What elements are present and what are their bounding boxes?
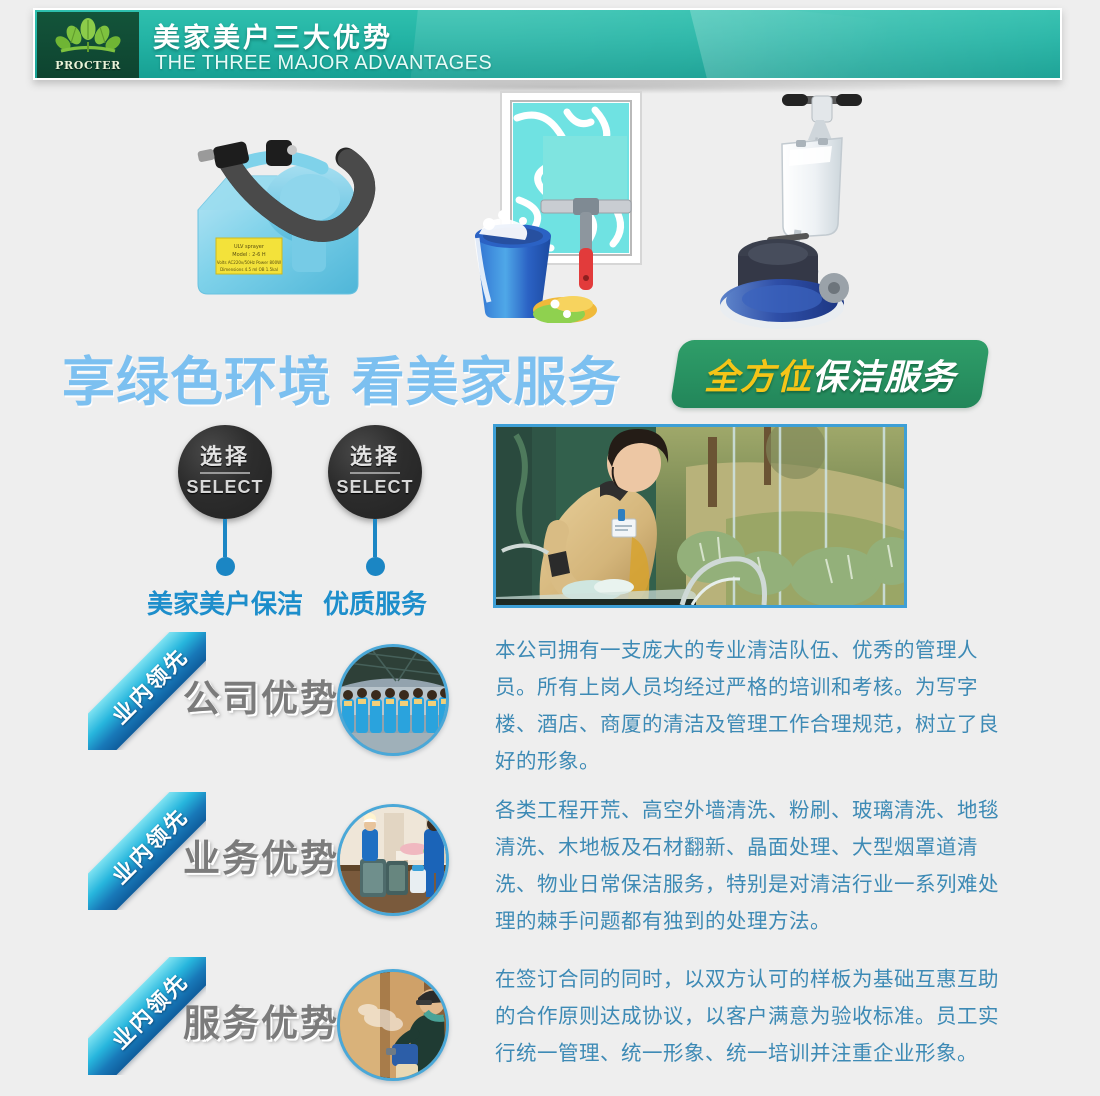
svg-text:ULV sprayer: ULV sprayer bbox=[234, 244, 265, 250]
full-service-banner: 全方位 保洁服务 bbox=[670, 340, 991, 408]
header-bar: PROCTER 美家美户三大优势 THE THREE MAJOR ADVANTA… bbox=[33, 8, 1062, 80]
select-badge-1-en: SELECT bbox=[186, 477, 263, 498]
pin-stem bbox=[223, 519, 227, 557]
pin-dot-icon-2 bbox=[366, 557, 385, 576]
ribbon-text-3: 业内领先 bbox=[104, 965, 195, 1056]
select-badge-2[interactable]: 选择 SELECT 优质服务 bbox=[290, 425, 460, 621]
page-header: PROCTER 美家美户三大优势 THE THREE MAJOR ADVANTA… bbox=[33, 8, 1062, 80]
advantage-row-company: 业内领先 公司优势 bbox=[0, 630, 1100, 770]
ribbon-text-1: 业内领先 bbox=[104, 640, 195, 731]
select-badge-2-cn: 选择 bbox=[350, 446, 400, 473]
logo-wordmark: PROCTER bbox=[55, 59, 121, 72]
pin-dot-icon bbox=[216, 557, 235, 576]
window-cleaning-kit bbox=[455, 88, 685, 323]
select-badge-1[interactable]: 选择 SELECT 美家美户保洁 bbox=[140, 425, 310, 621]
ulv-sprayer-machine: ULV sprayer Model : 2-6 H Volts AC220v/5… bbox=[170, 98, 420, 323]
banner-highlight-text: 全方位 bbox=[704, 349, 812, 400]
staff-team-lineup-photo bbox=[337, 644, 449, 756]
advantage-body-1: 本公司拥有一支庞大的专业清洁队伍、优秀的管理人员。所有上岗人员均经过严格的培训和… bbox=[495, 632, 1015, 780]
svg-text:Model : 2-6 H: Model : 2-6 H bbox=[232, 252, 266, 258]
advantage-row-business: 业内领先 业务优势 bbox=[0, 790, 1100, 940]
staff-cleaning-glass-table-photo bbox=[493, 424, 907, 608]
select-circle-icon-2: 选择 SELECT bbox=[328, 425, 422, 519]
pin-stem-2 bbox=[373, 519, 377, 557]
advantage-title-2: 业务优势 bbox=[183, 828, 343, 882]
workers-cleaning-interior-photo bbox=[337, 804, 449, 916]
select-badge-1-cn: 选择 bbox=[200, 446, 250, 473]
promo-page: PROCTER 美家美户三大优势 THE THREE MAJOR ADVANTA… bbox=[0, 0, 1100, 1096]
svg-text:Dimensions 4.5 ml OB 1.: Dimensions 4.5 ml OB 1.5kal bbox=[220, 267, 278, 272]
header-swoosh-decoration bbox=[681, 8, 1062, 80]
advantage-title-1: 公司优势 bbox=[183, 668, 343, 722]
banner-rest-text: 保洁服务 bbox=[812, 349, 956, 400]
svg-text:Volts AC220v/50Hz Power 800W: Volts AC220v/50Hz Power 800W bbox=[217, 260, 281, 265]
leaf-crown-icon bbox=[55, 18, 121, 58]
select-circle-icon: 选择 SELECT bbox=[178, 425, 272, 519]
header-title-cn: 美家美户三大优势 bbox=[153, 16, 393, 55]
brand-logo: PROCTER bbox=[37, 12, 139, 78]
select-badge-1-label: 美家美户保洁 bbox=[140, 584, 310, 621]
advantage-body-3: 在签订合同的同时，以双方认可的样板为基础互惠互助的合作原则达成协议，以客户满意为… bbox=[495, 961, 1015, 1072]
select-badge-group: 选择 SELECT 美家美户保洁 选择 SELECT 优质服务 bbox=[0, 425, 470, 615]
advantage-row-service: 业内领先 服务优势 bbox=[0, 955, 1100, 1095]
header-title-en: THE THREE MAJOR ADVANTAGES bbox=[155, 52, 492, 75]
advantage-body-2: 各类工程开荒、高空外墙清洗、粉刷、玻璃清洗、地毯清洗、木地板及石材翻新、晶面处理… bbox=[495, 792, 1015, 940]
floor-polisher-machine bbox=[720, 88, 920, 333]
select-badge-2-label: 优质服务 bbox=[290, 584, 460, 621]
worker-spraying-wall-photo bbox=[337, 969, 449, 1081]
advantage-title-3: 服务优势 bbox=[183, 993, 343, 1047]
product-image-row: ULV sprayer Model : 2-6 H Volts AC220v/5… bbox=[0, 88, 1100, 338]
ribbon-text-2: 业内领先 bbox=[104, 800, 195, 891]
select-badge-2-en: SELECT bbox=[336, 477, 413, 498]
main-headline: 享绿色环境 看美家服务 bbox=[62, 340, 621, 416]
